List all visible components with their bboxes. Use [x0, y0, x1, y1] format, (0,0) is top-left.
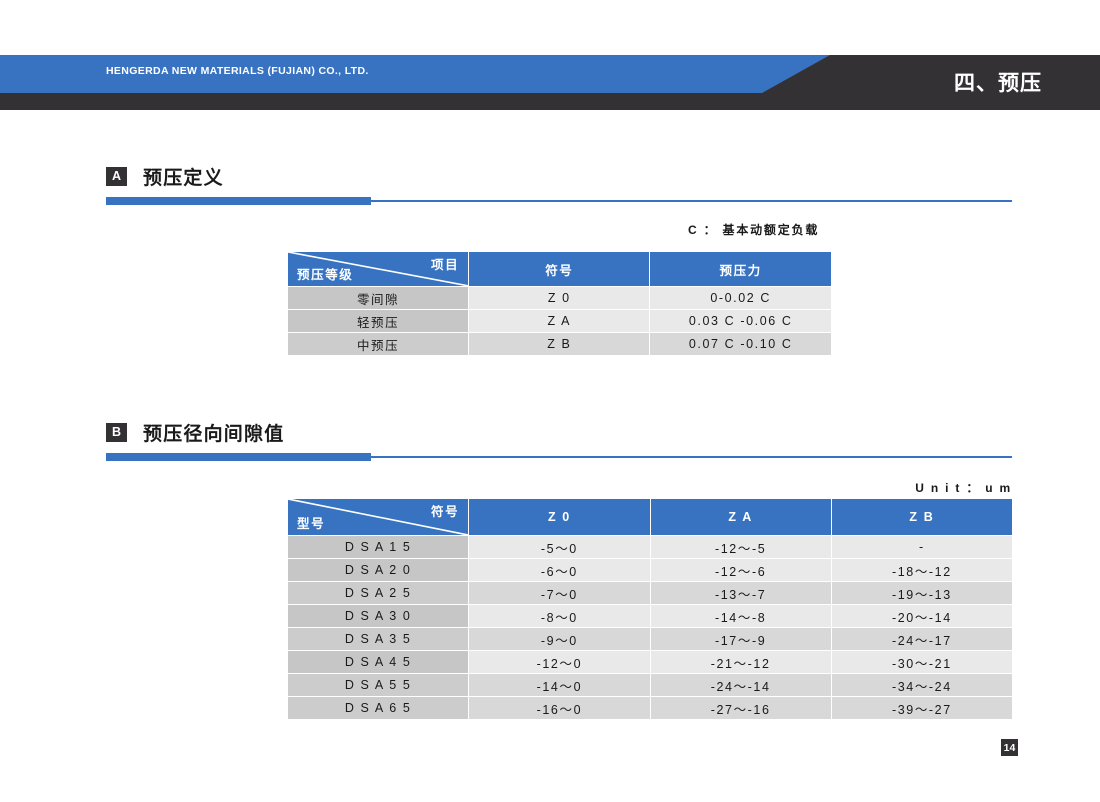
section-a: A 预压定义 [106, 164, 1012, 205]
table-b-cell-za: -24〜-14 [651, 674, 831, 696]
table-b-cell-z0: -8〜0 [469, 605, 649, 627]
section-b-rule-thick [106, 453, 371, 461]
page-number-badge: 14 [1001, 739, 1018, 756]
table-a-col-label: 项目 [431, 254, 459, 273]
table-b-th-zb: Z B [832, 499, 1012, 535]
table-a-cell-grade: 轻预压 [288, 310, 468, 332]
table-a-corner-cell: 项目 预压等级 [288, 252, 468, 286]
table-b-cell-za: -12〜-6 [651, 559, 831, 581]
section-b-title: 预压径向间隙值 [143, 419, 284, 446]
table-a-cell-grade: 中预压 [288, 333, 468, 355]
table-row: D S A 5 5 -14〜0 -24〜-14 -34〜-24 [288, 674, 1012, 696]
table-b-cell-model: D S A 6 5 [288, 697, 468, 719]
table-b-cell-zb: -24〜-17 [832, 628, 1012, 650]
table-row: 轻预压 Z A 0.03 C -0.06 C [288, 310, 831, 332]
table-row: 中预压 Z B 0.07 C -0.10 C [288, 333, 831, 355]
table-a-cell-symbol: Z A [469, 310, 649, 332]
table-a-header-row: 项目 预压等级 符号 预压力 [288, 252, 831, 286]
table-a-row-label: 预压等级 [297, 264, 353, 283]
table-b-col-label: 符号 [431, 501, 459, 520]
table-b-cell-z0: -12〜0 [469, 651, 649, 673]
table-b-cell-model: D S A 5 5 [288, 674, 468, 696]
table-b-cell-zb: -39〜-27 [832, 697, 1012, 719]
table-a-cell-force: 0.03 C -0.06 C [650, 310, 831, 332]
table-b-cell-zb: -20〜-14 [832, 605, 1012, 627]
table-row: D S A 2 0 -6〜0 -12〜-6 -18〜-12 [288, 559, 1012, 581]
table-b-cell-model: D S A 3 0 [288, 605, 468, 627]
table-b-cell-model: D S A 2 5 [288, 582, 468, 604]
table-b-cell-za: -13〜-7 [651, 582, 831, 604]
table-a-cell-symbol: Z 0 [469, 287, 649, 309]
table-b-cell-model: D S A 4 5 [288, 651, 468, 673]
table-row: D S A 3 0 -8〜0 -14〜-8 -20〜-14 [288, 605, 1012, 627]
table-row: 零间隙 Z 0 0-0.02 C [288, 287, 831, 309]
table-b-cell-za: -21〜-12 [651, 651, 831, 673]
table-b-row-label: 型号 [297, 513, 325, 532]
table-b-cell-zb: -19〜-13 [832, 582, 1012, 604]
table-b-cell-model: D S A 2 0 [288, 559, 468, 581]
table-a-cell-symbol: Z B [469, 333, 649, 355]
table-a-th-symbol: 符号 [469, 252, 649, 286]
table-b-cell-z0: -9〜0 [469, 628, 649, 650]
table-b-cell-model: D S A 3 5 [288, 628, 468, 650]
section-b: B 预压径向间隙值 [106, 420, 1012, 461]
table-b-cell-za: -14〜-8 [651, 605, 831, 627]
table-b-cell-z0: -14〜0 [469, 674, 649, 696]
table-b-cell-z0: -5〜0 [469, 536, 649, 558]
section-a-title: 预压定义 [143, 163, 224, 190]
table-preload-definition: 项目 预压等级 符号 预压力 零间隙 Z 0 0-0.02 C 轻预压 Z A … [287, 251, 832, 356]
table-a-cell-force: 0.07 C -0.10 C [650, 333, 831, 355]
section-b-rule [106, 453, 1012, 461]
table-b-corner-cell: 符号 型号 [288, 499, 468, 535]
section-a-badge: A [106, 167, 127, 186]
document-page: HENGERDA NEW MATERIALS (FUJIAN) CO., LTD… [0, 0, 1100, 802]
table-b-cell-zb: -30〜-21 [832, 651, 1012, 673]
section-a-rule [106, 197, 1012, 205]
table-a-caption: C ： 基本动额定负载 [688, 221, 819, 238]
section-b-badge: B [106, 423, 127, 442]
table-b-cell-za: -27〜-16 [651, 697, 831, 719]
table-row: D S A 1 5 -5〜0 -12〜-5 - [288, 536, 1012, 558]
table-b-cell-z0: -16〜0 [469, 697, 649, 719]
table-radial-clearance: 符号 型号 Z 0 Z A Z B D S A 1 5 -5〜0 -12〜-5 … [287, 498, 1013, 720]
table-a-cell-force: 0-0.02 C [650, 287, 831, 309]
table-b-header-row: 符号 型号 Z 0 Z A Z B [288, 499, 1012, 535]
table-b-th-z0: Z 0 [469, 499, 649, 535]
table-b-cell-zb: - [832, 536, 1012, 558]
page-header: HENGERDA NEW MATERIALS (FUJIAN) CO., LTD… [0, 55, 1100, 110]
section-a-rule-thick [106, 197, 371, 205]
table-row: D S A 3 5 -9〜0 -17〜-9 -24〜-17 [288, 628, 1012, 650]
section-a-heading: A 预压定义 [106, 164, 1012, 188]
table-row: D S A 2 5 -7〜0 -13〜-7 -19〜-13 [288, 582, 1012, 604]
table-b-cell-zb: -18〜-12 [832, 559, 1012, 581]
section-b-heading: B 预压径向间隙值 [106, 420, 1012, 444]
table-b-cell-z0: -7〜0 [469, 582, 649, 604]
table-b-caption: U n i t ： u m [915, 479, 1012, 496]
table-a-cell-grade: 零间隙 [288, 287, 468, 309]
table-b-cell-z0: -6〜0 [469, 559, 649, 581]
table-b-cell-za: -12〜-5 [651, 536, 831, 558]
table-b-cell-za: -17〜-9 [651, 628, 831, 650]
chapter-title: 四、预压 [954, 67, 1042, 97]
table-row: D S A 6 5 -16〜0 -27〜-16 -39〜-27 [288, 697, 1012, 719]
table-b-cell-model: D S A 1 5 [288, 536, 468, 558]
table-a-th-force: 预压力 [650, 252, 831, 286]
company-name: HENGERDA NEW MATERIALS (FUJIAN) CO., LTD… [106, 65, 369, 77]
table-b-th-za: Z A [651, 499, 831, 535]
table-b-cell-zb: -34〜-24 [832, 674, 1012, 696]
table-row: D S A 4 5 -12〜0 -21〜-12 -30〜-21 [288, 651, 1012, 673]
